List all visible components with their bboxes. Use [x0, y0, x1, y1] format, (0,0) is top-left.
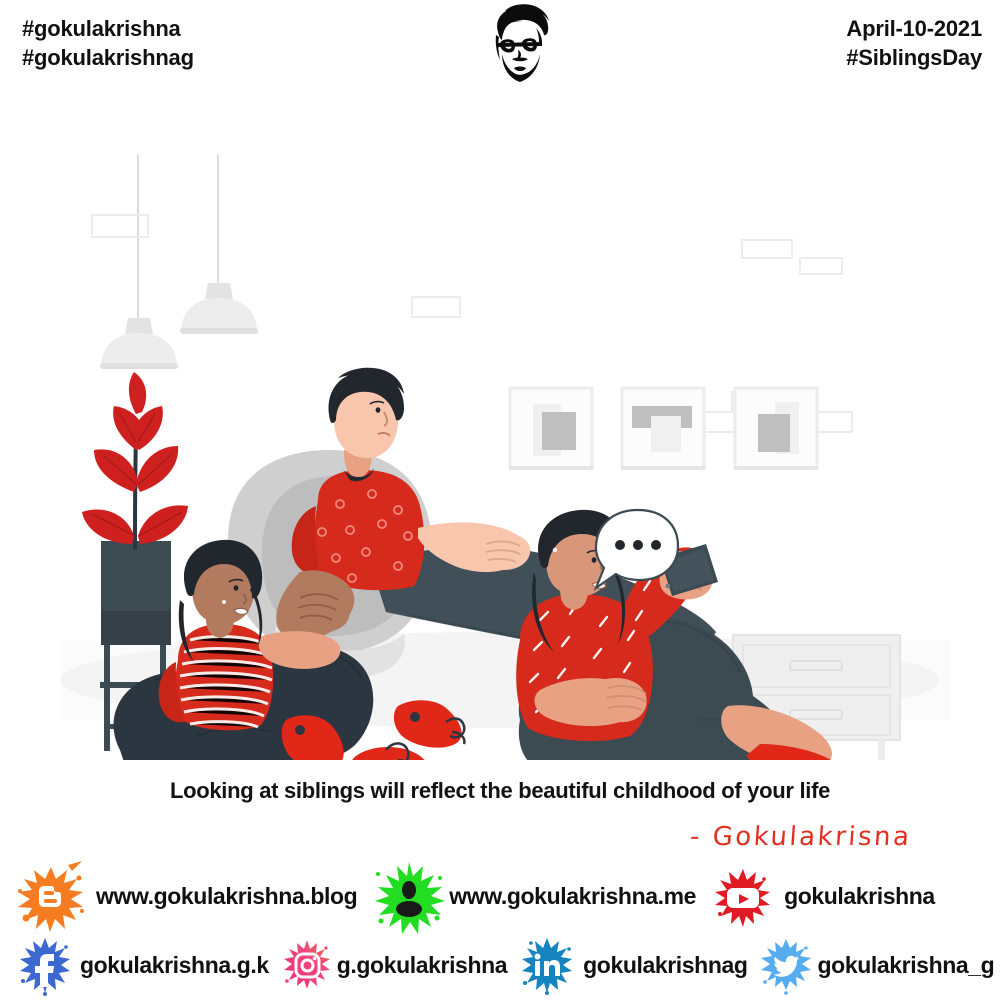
- social-link-twitter[interactable]: gokulakrishna_g: [758, 931, 995, 1000]
- handle-line-2: #gokulakrishnag: [22, 43, 194, 72]
- wall-frame-1: [509, 388, 593, 470]
- handle-line-1: #gokulakrishna: [22, 14, 194, 43]
- siblings-illustration: [0, 120, 1000, 760]
- author-signature: - Gokulakrisna: [689, 822, 913, 852]
- website-label: www.gokulakrishna.me: [449, 883, 696, 910]
- header-left-handles: #gokulakrishna #gokulakrishnag: [0, 0, 194, 72]
- page-header: #gokulakrishna #gokulakrishnag: [0, 0, 1000, 95]
- wall-frame-2: [621, 388, 705, 470]
- social-link-instagram[interactable]: g.gokulakrishna: [281, 931, 507, 1000]
- social-link-linkedin[interactable]: gokulakrishnag: [517, 931, 747, 1000]
- social-link-youtube[interactable]: gokulakrishna: [712, 862, 935, 931]
- blogger-label: www.gokulakrishna.blog: [96, 883, 357, 910]
- twitter-icon[interactable]: [758, 935, 814, 997]
- header-right-meta: April-10-2021 #SiblingsDay: [846, 0, 1000, 72]
- blogger-icon[interactable]: [12, 861, 90, 933]
- linkedin-icon[interactable]: [517, 935, 577, 997]
- date-text: April-10-2021: [846, 14, 982, 43]
- wall-frame-3: [734, 388, 818, 470]
- profile-icon[interactable]: [371, 858, 447, 936]
- linkedin-label: gokulakrishnag: [583, 952, 747, 979]
- youtube-icon[interactable]: [712, 866, 774, 928]
- social-link-facebook[interactable]: gokulakrishna.g.k: [16, 931, 269, 1000]
- gokulakrishna-avatar-logo: [478, 2, 562, 94]
- occasion-hashtag: #SiblingsDay: [846, 43, 982, 72]
- social-footer: www.gokulakrishna.blog www.gokulakrishna…: [0, 862, 1000, 1000]
- youtube-label: gokulakrishna: [784, 883, 935, 910]
- social-row-1: www.gokulakrishna.blog www.gokulakrishna…: [0, 862, 1000, 931]
- instagram-label: g.gokulakrishna: [337, 952, 507, 979]
- social-link-website[interactable]: www.gokulakrishna.me: [371, 862, 696, 931]
- instagram-icon[interactable]: [281, 937, 333, 995]
- page-caption: Looking at siblings will reflect the bea…: [0, 778, 1000, 804]
- twitter-label: gokulakrishna_g: [818, 952, 995, 979]
- social-link-blogger[interactable]: www.gokulakrishna.blog: [12, 862, 357, 931]
- facebook-icon[interactable]: [16, 935, 74, 997]
- facebook-label: gokulakrishna.g.k: [80, 952, 269, 979]
- social-row-2: gokulakrishna.g.k: [0, 931, 1000, 1000]
